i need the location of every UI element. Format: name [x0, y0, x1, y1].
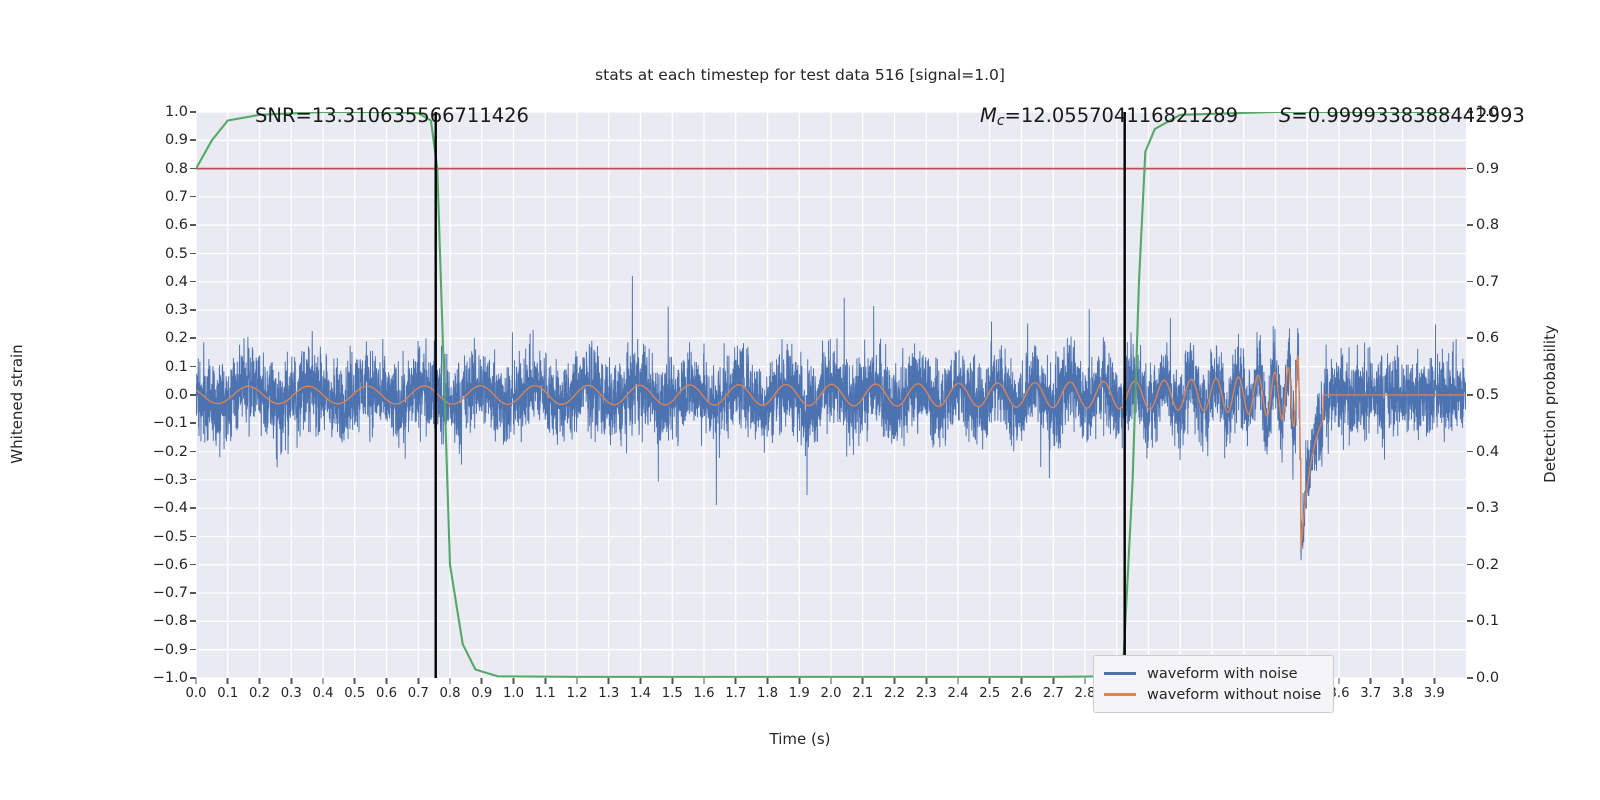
x-axis-tick: 0.3 [281, 686, 302, 701]
x-axis-tick: 2.5 [979, 686, 1000, 701]
x-axis-tick: 0.1 [217, 686, 238, 701]
y-axis-left-tick: 0.6 [165, 217, 188, 233]
x-axis-tick-label: 1.4 [630, 686, 651, 701]
y-axis-left-tick: 0.0 [165, 387, 188, 403]
y-axis-right-tick: 0.9 [1476, 161, 1499, 177]
legend-swatch-icon [1104, 672, 1136, 674]
x-axis-tick-label: 3.7 [1360, 686, 1381, 701]
x-axis-tick: 0.8 [440, 686, 461, 701]
tick-mark [1338, 678, 1340, 684]
x-axis-tick-label: 1.2 [567, 686, 588, 701]
tick-mark [989, 678, 991, 684]
tick-mark [190, 139, 196, 141]
annotation-score: S=0.9999338388442993 [1279, 104, 1525, 127]
x-axis-tick: 1.1 [535, 686, 556, 701]
legend-item[interactable]: waveform without noise [1104, 684, 1321, 705]
x-axis-label: Time (s) [0, 730, 1600, 748]
legend-item-label: waveform with noise [1147, 666, 1298, 682]
page-title: stats at each timestep for test data 516… [0, 66, 1600, 84]
y-axis-left-tick-label: −0.7 [153, 585, 188, 601]
annotation-score-prefix: = [1291, 104, 1307, 127]
y-axis-left-tick-label: −0.5 [153, 529, 188, 545]
tick-mark [190, 111, 196, 113]
y-axis-left-tick: −0.9 [153, 642, 188, 658]
x-axis-tick: 2.7 [1043, 686, 1064, 701]
tick-mark [544, 678, 546, 684]
tick-mark [1467, 224, 1473, 226]
y-axis-left-tick: −0.8 [153, 613, 188, 629]
x-axis-tick: 0.9 [471, 686, 492, 701]
tick-mark [671, 678, 673, 684]
x-axis-tick: 0.6 [376, 686, 397, 701]
x-axis-tick-label: 0.8 [440, 686, 461, 701]
x-axis-tick: 3.8 [1392, 686, 1413, 701]
x-axis-tick-label: 1.8 [757, 686, 778, 701]
tick-mark [190, 564, 196, 566]
y-axis-left-tick: −0.4 [153, 500, 188, 516]
x-axis-tick: 0.4 [313, 686, 334, 701]
tick-mark [195, 678, 197, 684]
y-axis-right-tick: 0.5 [1476, 387, 1499, 403]
y-axis-right-tick-label: 0.5 [1476, 387, 1499, 403]
y-axis-left-tick: −0.7 [153, 585, 188, 601]
y-axis-left-tick-label: −0.6 [153, 557, 188, 573]
y-axis-left-tick-label: −0.8 [153, 613, 188, 629]
tick-mark [735, 678, 737, 684]
y-axis-left-tick-label: 0.3 [165, 302, 188, 318]
tick-mark [190, 422, 196, 424]
y-axis-left-tick: 0.7 [165, 189, 188, 205]
y-axis-right-tick-label: 0.4 [1476, 444, 1499, 460]
y-axis-right-tick-label: 0.8 [1476, 217, 1499, 233]
tick-mark [576, 678, 578, 684]
tick-mark [1433, 678, 1435, 684]
tick-mark [608, 678, 610, 684]
x-axis-tick: 2.3 [916, 686, 937, 701]
annotation-snr-value: 13.310635566711426 [312, 104, 529, 127]
y-axis-right-tick: 0.1 [1476, 613, 1499, 629]
y-axis-left-tick-label: 1.0 [165, 104, 188, 120]
x-axis-tick: 2.4 [948, 686, 969, 701]
tick-mark [190, 507, 196, 509]
x-axis-tick: 1.0 [503, 686, 524, 701]
tick-mark [190, 536, 196, 538]
tick-mark [417, 678, 419, 684]
tick-mark [925, 678, 927, 684]
x-axis-tick: 2.6 [1011, 686, 1032, 701]
x-axis-tick-label: 0.3 [281, 686, 302, 701]
annotation-chirp-mass-prefix: = [1005, 104, 1021, 127]
tick-mark [767, 678, 769, 684]
y-axis-left-tick: 0.3 [165, 302, 188, 318]
legend[interactable]: waveform with noisewaveform without nois… [1093, 655, 1334, 713]
tick-mark [190, 309, 196, 311]
y-axis-left-tick: −0.5 [153, 529, 188, 545]
y-axis-right-tick: 0.7 [1476, 274, 1499, 290]
x-axis-tick: 2.1 [852, 686, 873, 701]
x-axis-tick: 3.9 [1424, 686, 1445, 701]
annotation-score-symbol: S [1279, 104, 1291, 127]
x-axis-tick: 0.7 [408, 686, 429, 701]
x-axis-tick: 1.2 [567, 686, 588, 701]
x-axis-tick-label: 2.1 [852, 686, 873, 701]
tick-mark [386, 678, 388, 684]
x-axis-tick: 1.4 [630, 686, 651, 701]
y-axis-left-tick: 0.5 [165, 246, 188, 262]
x-axis-tick: 1.5 [662, 686, 683, 701]
y-axis-right-tick: 0.3 [1476, 500, 1499, 516]
annotation-snr-prefix: SNR= [255, 104, 312, 127]
tick-mark [513, 678, 515, 684]
y-axis-right-tick: 0.0 [1476, 670, 1499, 686]
annotation-chirp-mass-value: 12.055704116821289 [1021, 104, 1238, 127]
tick-mark [830, 678, 832, 684]
tick-mark [703, 678, 705, 684]
tick-mark [640, 678, 642, 684]
tick-mark [190, 337, 196, 339]
x-axis-tick: 1.6 [694, 686, 715, 701]
tick-mark [322, 678, 324, 684]
x-axis-tick-label: 1.9 [789, 686, 810, 701]
y-axis-left-tick: −0.2 [153, 444, 188, 460]
tick-mark [1467, 451, 1473, 453]
y-axis-right-tick: 0.2 [1476, 557, 1499, 573]
x-axis-tick: 1.3 [598, 686, 619, 701]
y-axis-left-tick-label: −0.1 [153, 415, 188, 431]
tick-mark [190, 224, 196, 226]
tick-mark [1467, 281, 1473, 283]
y-axis-right-tick: 0.4 [1476, 444, 1499, 460]
tick-mark [1467, 168, 1473, 170]
x-axis-tick-label: 2.5 [979, 686, 1000, 701]
tick-mark [1370, 678, 1372, 684]
x-axis-tick-label: 1.6 [694, 686, 715, 701]
y-axis-left-tick: 0.9 [165, 132, 188, 148]
y-axis-left-tick: −0.6 [153, 557, 188, 573]
tick-mark [1084, 678, 1086, 684]
tick-mark [190, 394, 196, 396]
tick-mark [290, 678, 292, 684]
y-axis-right-tick-label: 0.1 [1476, 613, 1499, 629]
x-axis-tick-label: 3.9 [1424, 686, 1445, 701]
tick-mark [190, 281, 196, 283]
x-axis-tick: 2.0 [821, 686, 842, 701]
y-axis-left-tick-label: −0.2 [153, 444, 188, 460]
x-axis-tick-label: 2.3 [916, 686, 937, 701]
annotation-score-value: 0.9999338388442993 [1308, 104, 1525, 127]
tick-mark [1052, 678, 1054, 684]
x-axis-tick-label: 0.2 [249, 686, 270, 701]
y-axis-left-tick: −1.0 [153, 670, 188, 686]
overlay-layer [196, 112, 1466, 678]
tick-mark [190, 366, 196, 368]
x-axis-tick-label: 2.7 [1043, 686, 1064, 701]
x-axis-tick-label: 0.7 [408, 686, 429, 701]
y-axis-left-label: Whitened strain [8, 254, 26, 554]
tick-mark [190, 196, 196, 198]
x-axis-tick: 2.2 [884, 686, 905, 701]
tick-mark [1467, 564, 1473, 566]
x-axis-tick-label: 2.2 [884, 686, 905, 701]
x-axis-tick-label: 1.0 [503, 686, 524, 701]
tick-mark [227, 678, 229, 684]
y-axis-right-tick: 0.6 [1476, 330, 1499, 346]
y-axis-left-tick-label: 0.9 [165, 132, 188, 148]
y-axis-right-label: Detection probability [1541, 234, 1559, 574]
y-axis-left-tick-label: 0.7 [165, 189, 188, 205]
tick-mark [190, 451, 196, 453]
x-axis-tick-label: 1.7 [725, 686, 746, 701]
tick-mark [190, 620, 196, 622]
tick-mark [894, 678, 896, 684]
x-axis-tick: 1.9 [789, 686, 810, 701]
x-axis-tick: 3.7 [1360, 686, 1381, 701]
x-axis-tick: 0.5 [344, 686, 365, 701]
x-axis-tick-label: 0.1 [217, 686, 238, 701]
tick-mark [481, 678, 483, 684]
annotation-chirp-mass-subscript: c [997, 113, 1005, 129]
x-axis-tick: 1.7 [725, 686, 746, 701]
y-axis-left-tick: 0.2 [165, 330, 188, 346]
y-axis-left-tick: −0.1 [153, 415, 188, 431]
x-axis-tick-label: 0.0 [186, 686, 207, 701]
tick-mark [449, 678, 451, 684]
y-axis-left-tick-label: 0.6 [165, 217, 188, 233]
annotation-chirp-mass: Mc=12.055704116821289 [980, 104, 1238, 129]
tick-mark [1467, 620, 1473, 622]
y-axis-right-tick: 0.8 [1476, 217, 1499, 233]
y-axis-left-tick-label: −0.9 [153, 642, 188, 658]
tick-mark [1402, 678, 1404, 684]
y-axis-right-tick-label: 0.7 [1476, 274, 1499, 290]
tick-mark [1021, 678, 1023, 684]
y-axis-left-tick: −0.3 [153, 472, 188, 488]
tick-mark [798, 678, 800, 684]
y-axis-left-tick-label: −0.3 [153, 472, 188, 488]
y-axis-left-tick-label: 0.5 [165, 246, 188, 262]
y-axis-left-tick-label: −1.0 [153, 670, 188, 686]
tick-mark [190, 649, 196, 651]
tick-mark [354, 678, 356, 684]
x-axis-tick-label: 0.5 [344, 686, 365, 701]
y-axis-right-tick-label: 0.0 [1476, 670, 1499, 686]
x-axis-tick-label: 0.9 [471, 686, 492, 701]
annotation-chirp-mass-symbol: M [980, 104, 997, 127]
y-axis-left-tick-label: 0.1 [165, 359, 188, 375]
x-axis-tick-label: 1.5 [662, 686, 683, 701]
tick-mark [190, 168, 196, 170]
legend-item[interactable]: waveform with noise [1104, 663, 1321, 684]
y-axis-left-tick: 0.1 [165, 359, 188, 375]
y-axis-right-tick-label: 0.2 [1476, 557, 1499, 573]
tick-mark [1467, 394, 1473, 396]
figure-canvas: stats at each timestep for test data 516… [0, 0, 1600, 800]
tick-mark [190, 253, 196, 255]
tick-mark [190, 479, 196, 481]
x-axis-tick-label: 1.3 [598, 686, 619, 701]
x-axis-tick: 0.0 [186, 686, 207, 701]
tick-mark [1467, 337, 1473, 339]
y-axis-left-tick-label: −0.4 [153, 500, 188, 516]
y-axis-left-tick: 0.8 [165, 161, 188, 177]
y-axis-left-tick-label: 0.4 [165, 274, 188, 290]
tick-mark [1467, 677, 1473, 679]
y-axis-left-tick: 1.0 [165, 104, 188, 120]
x-axis-tick: 0.2 [249, 686, 270, 701]
tick-mark [862, 678, 864, 684]
y-axis-left-tick-label: 0.0 [165, 387, 188, 403]
x-axis-tick-label: 2.6 [1011, 686, 1032, 701]
x-axis-tick-label: 2.4 [948, 686, 969, 701]
y-axis-right-tick-label: 0.6 [1476, 330, 1499, 346]
x-axis-tick-label: 0.6 [376, 686, 397, 701]
x-axis-tick-label: 0.4 [313, 686, 334, 701]
tick-mark [190, 592, 196, 594]
x-axis-tick: 1.8 [757, 686, 778, 701]
x-axis-tick-label: 2.0 [821, 686, 842, 701]
annotation-snr: SNR=13.310635566711426 [255, 104, 529, 127]
y-axis-right-tick-label: 0.3 [1476, 500, 1499, 516]
x-axis-tick-label: 1.1 [535, 686, 556, 701]
legend-swatch-icon [1104, 693, 1136, 695]
y-axis-right-tick-label: 0.9 [1476, 161, 1499, 177]
y-axis-left-tick: 0.4 [165, 274, 188, 290]
tick-mark [1467, 507, 1473, 509]
y-axis-left-tick-label: 0.2 [165, 330, 188, 346]
tick-mark [259, 678, 261, 684]
y-axis-left-tick-label: 0.8 [165, 161, 188, 177]
tick-mark [957, 678, 959, 684]
plot-area[interactable] [196, 112, 1466, 678]
x-axis-tick-label: 3.8 [1392, 686, 1413, 701]
legend-item-label: waveform without noise [1147, 687, 1321, 703]
